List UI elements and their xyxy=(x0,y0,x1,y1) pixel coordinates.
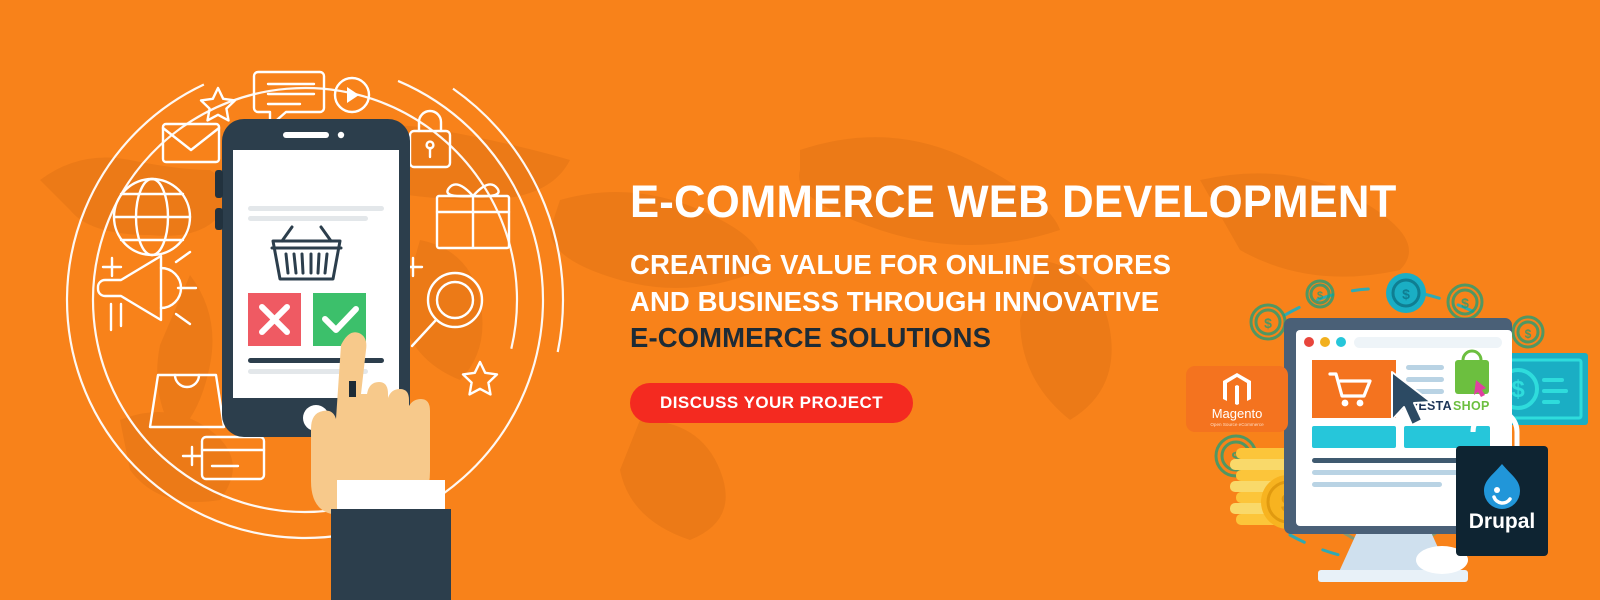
teal-coin-icon: $ xyxy=(1386,273,1426,313)
shopping-bag-icon xyxy=(150,375,224,427)
svg-text:$: $ xyxy=(1317,290,1323,302)
star-icon xyxy=(463,362,497,394)
magento-logo: Magento Open Source eCommerce xyxy=(1186,366,1288,432)
svg-text:$: $ xyxy=(1264,315,1272,331)
right-illustration: $ $ $ $ $ $ $ xyxy=(1180,260,1600,600)
globe-icon xyxy=(114,179,190,255)
plus-icon xyxy=(183,447,201,465)
svg-text:Drupal: Drupal xyxy=(1469,510,1536,533)
plus-icon xyxy=(103,258,121,276)
svg-text:Open Source eCommerce: Open Source eCommerce xyxy=(1210,422,1264,427)
page-title: E-COMMERCE WEB DEVELOPMENT xyxy=(630,178,1464,225)
reject-button xyxy=(248,293,301,346)
chat-bubble-icon xyxy=(254,72,324,126)
discuss-your-project-button[interactable]: DISCUSS YOUR PROJECT xyxy=(630,383,913,423)
svg-text:$: $ xyxy=(1402,286,1410,302)
svg-text:Magento: Magento xyxy=(1212,406,1263,421)
play-circle-icon xyxy=(335,78,369,112)
svg-text:$: $ xyxy=(1461,295,1469,311)
credit-card-icon xyxy=(202,437,264,479)
ecommerce-banner: E-COMMERCE WEB DEVELOPMENT CREATING VALU… xyxy=(0,0,1600,600)
magnifier-icon xyxy=(412,273,482,346)
svg-text:$: $ xyxy=(1511,376,1525,403)
left-illustration xyxy=(0,0,600,600)
star-icon xyxy=(201,88,235,120)
svg-text:$: $ xyxy=(1525,327,1532,341)
envelope-icon xyxy=(163,124,219,162)
hero-banner xyxy=(1312,360,1396,418)
gift-box-icon xyxy=(437,184,509,248)
